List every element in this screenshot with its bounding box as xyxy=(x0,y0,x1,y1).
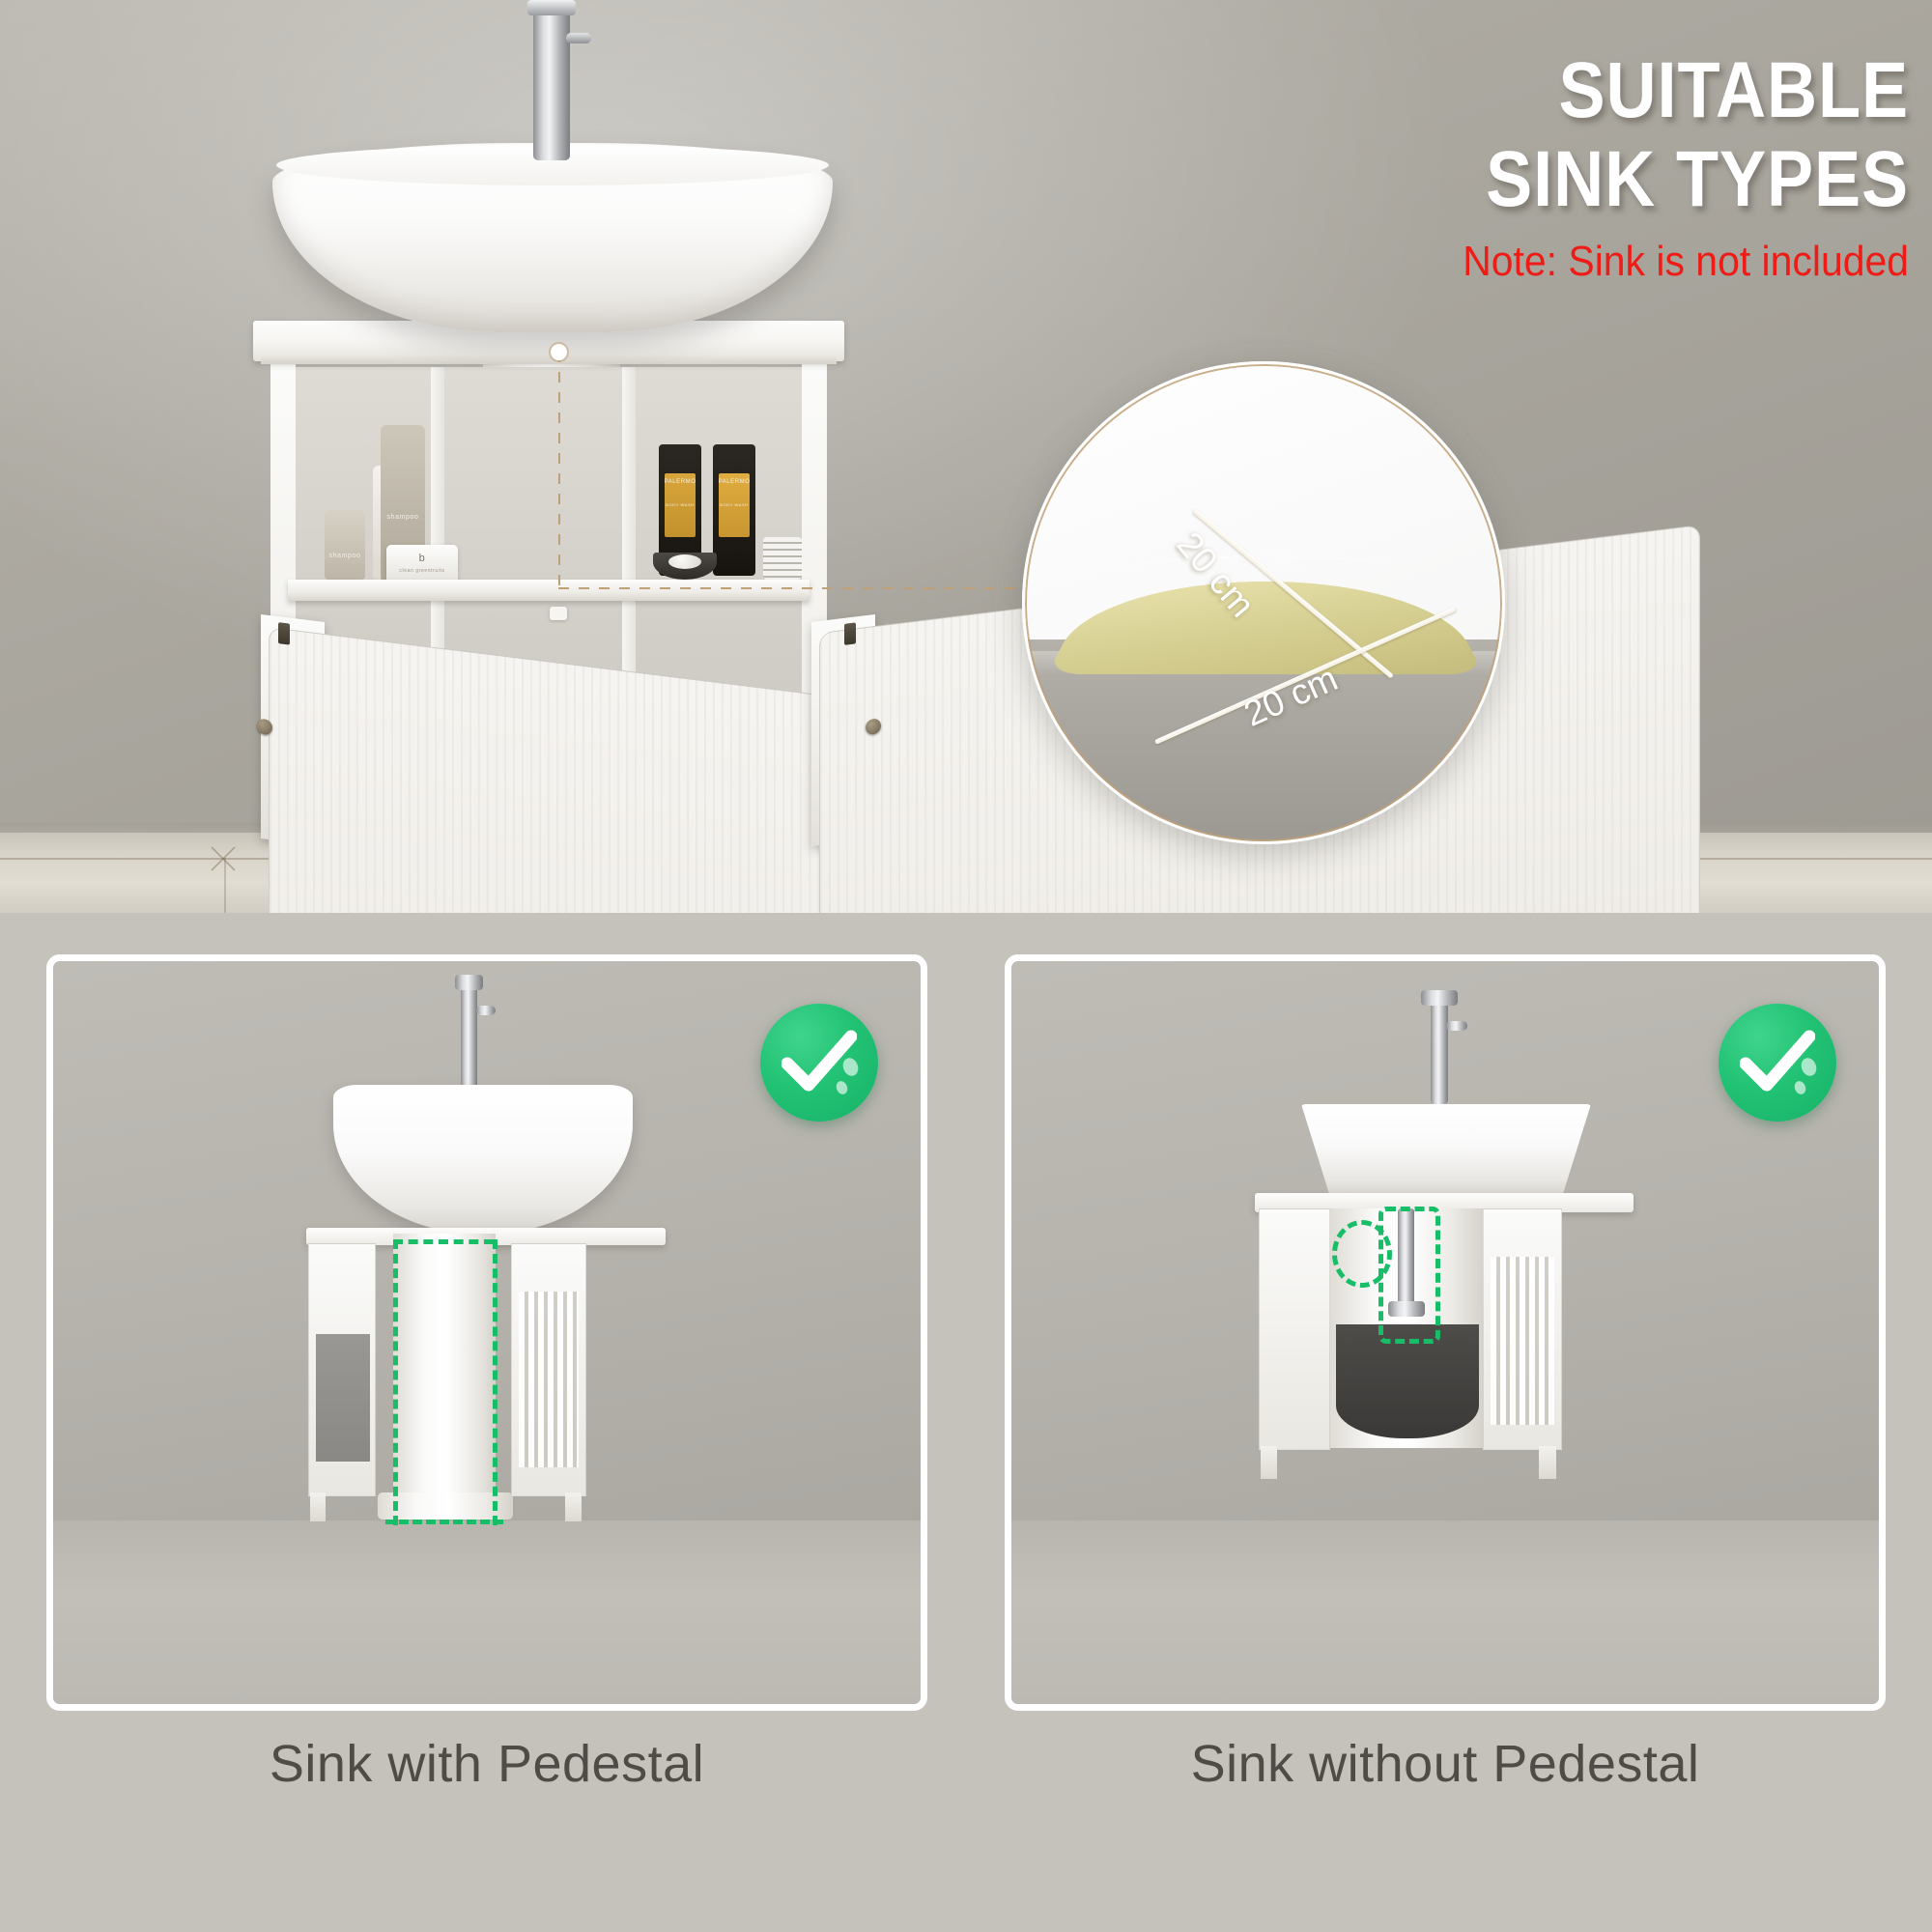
shelf-jar-sublabel: clean greentruits xyxy=(392,568,452,574)
mini-leg-left xyxy=(310,1492,326,1521)
shelf-bottle-small: shampoo xyxy=(325,510,365,580)
shelf-bottle-label: shampoo xyxy=(327,553,361,559)
panel-sink-without-pedestal xyxy=(1005,954,1886,1711)
soap-bar xyxy=(668,554,701,569)
status-badge-approved xyxy=(1719,1004,1836,1122)
callout-anchor-clip xyxy=(550,607,567,620)
mini-sink-bowl xyxy=(1301,1104,1591,1197)
pump-bottle-sublabel: BODY WASH xyxy=(717,502,753,507)
pump-bottle-sublabel: BODY WASH xyxy=(663,502,698,507)
mini-faucet xyxy=(461,982,477,1096)
shelf-bottle-label: shampoo xyxy=(384,514,422,521)
mini-faucet-lever xyxy=(476,1006,496,1015)
mini-faucet-cap xyxy=(1421,990,1458,1006)
shelf-jar-label: b xyxy=(392,553,452,564)
mini-faucet-cap xyxy=(455,975,483,990)
under-sink-cabinet: shampoo shampoo shampoo b clean greentru… xyxy=(253,321,844,900)
pump-bottle-label: PALERMO xyxy=(717,479,753,485)
disclaimer-note: Note: Sink is not included xyxy=(1065,236,1909,288)
page-title-line2: SINK TYPES xyxy=(1110,135,1909,224)
floor-tile-star xyxy=(200,836,246,882)
shelf-stacked-discs xyxy=(763,537,802,580)
callout-vertical-line xyxy=(558,352,560,589)
highlight-pedestal-right xyxy=(493,1239,497,1525)
cabinet-door-left[interactable] xyxy=(261,614,325,846)
comparison-section: Sink with Pedestal xyxy=(0,913,1932,1932)
cabinet-shelf-divider xyxy=(622,367,636,582)
callout-anchor-dot xyxy=(551,344,567,360)
status-badge-approved xyxy=(760,1004,878,1122)
mini-leg-right xyxy=(565,1492,582,1521)
cabinet-upper-shelf xyxy=(288,580,810,601)
cabinet-door-right[interactable] xyxy=(811,614,875,846)
mini-cabinet-left-side xyxy=(1259,1208,1330,1450)
shelf-pump-bottle-right: PALERMO BODY WASH xyxy=(713,444,755,576)
highlight-pedestal-bottom xyxy=(385,1520,503,1524)
highlight-drain-pipe xyxy=(1378,1207,1440,1344)
mini-leg-left xyxy=(1261,1446,1277,1479)
mini-pedestal-column xyxy=(393,1234,496,1514)
faucet-lever xyxy=(566,33,591,43)
door-hinge-left-top xyxy=(278,622,290,644)
mini-leg-right xyxy=(1539,1446,1556,1479)
pump-bottle-label: PALERMO xyxy=(663,479,698,485)
faucet-cap xyxy=(527,0,576,15)
magnifier-inset: 20 cm 20 cm xyxy=(1022,361,1505,844)
panel-sink-with-pedestal xyxy=(46,954,927,1711)
mini-faucet xyxy=(1431,998,1448,1104)
page-title-line1: SUITABLE xyxy=(1110,46,1909,135)
faucet xyxy=(533,6,570,160)
door-hinge-right-top xyxy=(844,622,856,644)
heading-block: SUITABLE SINK TYPES Note: Sink is not in… xyxy=(1001,46,1909,288)
mini-sink-bowl xyxy=(333,1085,633,1235)
caption-sink-with-pedestal: Sink with Pedestal xyxy=(46,1734,927,1794)
mini-cabinet-slats xyxy=(519,1292,579,1467)
mini-cabinet-slats xyxy=(1491,1257,1554,1425)
highlight-pedestal-left xyxy=(393,1239,398,1525)
shelf-jar: b clean greentruits xyxy=(386,545,458,583)
caption-sink-without-pedestal: Sink without Pedestal xyxy=(1005,1734,1886,1794)
callout-dashed-line xyxy=(558,587,1061,589)
highlight-drain-loop xyxy=(1332,1220,1392,1288)
highlight-pedestal-top xyxy=(393,1239,494,1244)
mini-faucet-lever xyxy=(1446,1021,1467,1031)
mini-cabinet-left-opening xyxy=(316,1334,370,1462)
hero-scene: shampoo shampoo shampoo b clean greentru… xyxy=(0,0,1932,913)
cabinet-countertop-edge xyxy=(261,355,837,364)
